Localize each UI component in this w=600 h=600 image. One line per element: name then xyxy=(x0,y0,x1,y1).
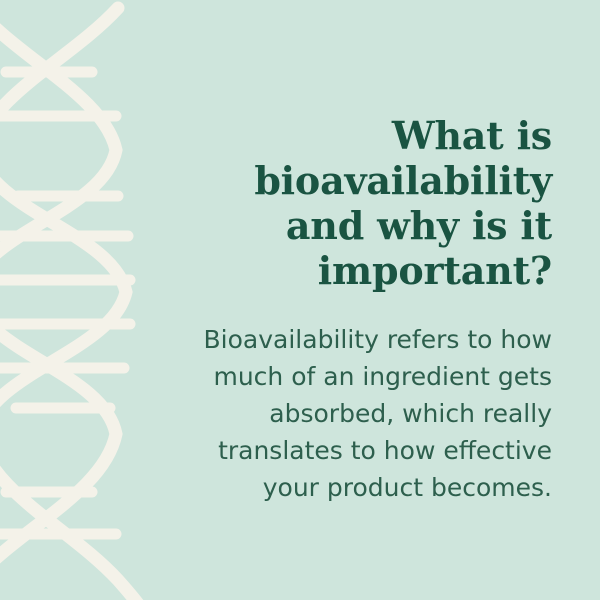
page-title: What is bioavailability and why is it im… xyxy=(180,113,552,293)
body-line-3: absorbed, which really xyxy=(180,395,552,432)
text-content: What is bioavailability and why is it im… xyxy=(180,0,552,600)
heading-line-3: and why is it xyxy=(180,203,552,248)
body-line-4: translates to how effective xyxy=(180,432,552,469)
heading-line-1: What is xyxy=(180,113,552,158)
body-line-5: your product becomes. xyxy=(180,469,552,506)
heading-line-4: important? xyxy=(180,248,552,293)
heading-line-2: bioavailability xyxy=(180,158,552,203)
body-line-2: much of an ingredient gets xyxy=(180,358,552,395)
dna-helix-graphic xyxy=(0,0,150,600)
body-line-1: Bioavailability refers to how xyxy=(180,321,552,358)
dna-helix-svg xyxy=(0,0,150,600)
body-paragraph: Bioavailability refers to how much of an… xyxy=(180,321,552,506)
info-card: What is bioavailability and why is it im… xyxy=(0,0,600,600)
